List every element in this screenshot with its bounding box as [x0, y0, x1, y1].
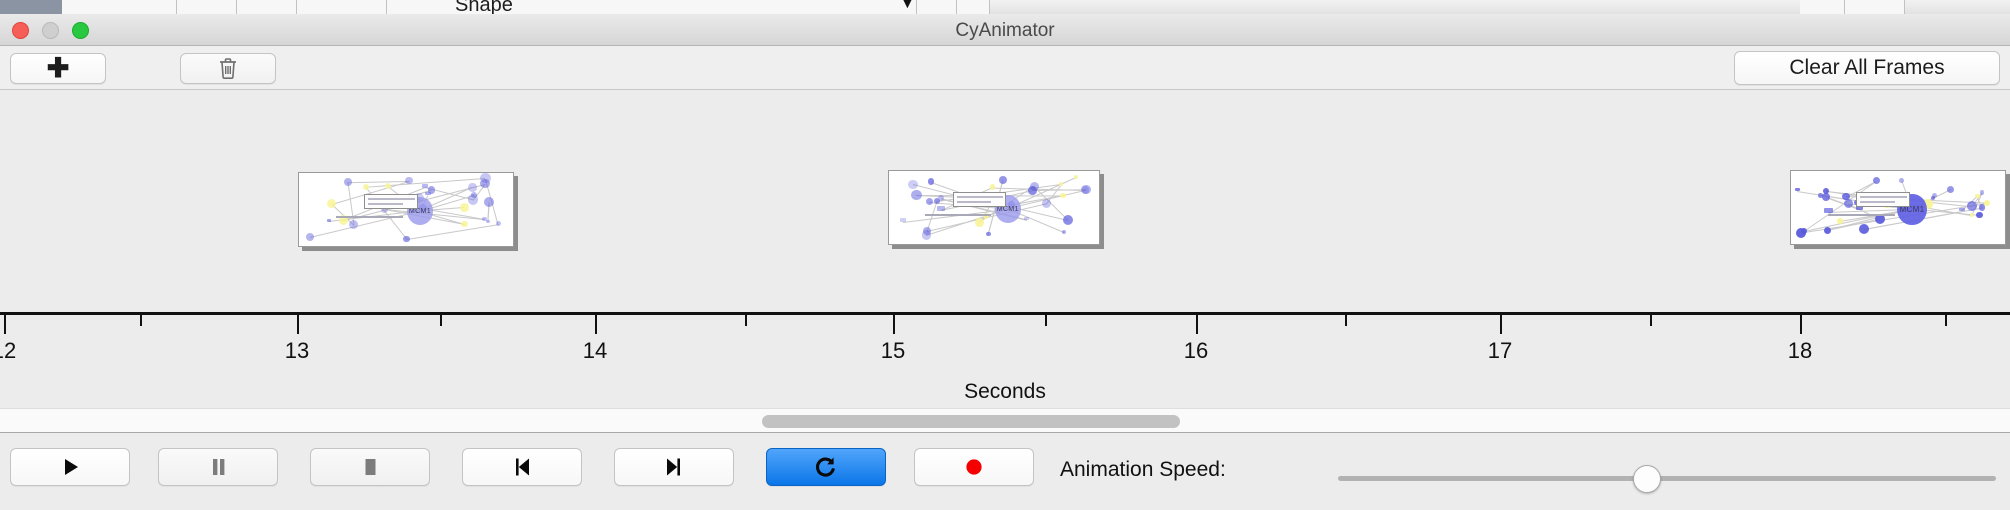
background-chunk — [297, 0, 387, 14]
background-chunk — [62, 0, 177, 14]
graph-node-blue — [422, 184, 429, 188]
add-frame-button[interactable]: ✚ — [10, 53, 106, 84]
graph-caption-line — [925, 214, 991, 216]
animation-speed-label: Animation Speed: — [1060, 458, 1226, 482]
graph-node-blue — [1873, 177, 1880, 184]
graph-node-blue — [1062, 230, 1066, 234]
callout-text-line — [1860, 196, 1907, 198]
skip-forward-icon — [659, 454, 689, 480]
animation-speed-slider-thumb[interactable] — [1633, 465, 1661, 493]
axis-tick-label: 13 — [285, 338, 309, 364]
background-caret-icon: ▼ — [900, 0, 915, 12]
delete-frame-button[interactable] — [180, 53, 276, 84]
graph-annotation-callout — [1856, 192, 1910, 207]
background-chunk — [177, 0, 237, 14]
graph-node-blue — [1030, 182, 1039, 191]
graph-node-blue — [1931, 196, 1935, 200]
frame-thumbnail[interactable]: MCM1 — [888, 170, 1100, 245]
graph-node-blue — [900, 218, 907, 222]
record-button[interactable] — [914, 448, 1034, 486]
axis-tick-minor — [745, 315, 747, 326]
graph-node-blue — [1859, 224, 1869, 234]
axis-tick-minor — [1650, 315, 1652, 326]
loop-button[interactable] — [766, 448, 886, 486]
stop-icon — [355, 454, 385, 480]
graph-node-yellow — [1059, 182, 1063, 186]
background-chunk — [957, 0, 990, 14]
playback-toolbar: Animation Speed: — [0, 434, 2010, 510]
graph-annotation-callout — [364, 194, 418, 209]
graph-node-blue — [468, 183, 476, 191]
graph-node-blue — [908, 180, 917, 189]
graph-node-blue — [1042, 199, 1052, 209]
callout-text-line — [957, 201, 991, 203]
axis-tick-major — [1500, 315, 1502, 334]
axis-tick-major — [1196, 315, 1198, 334]
graph-node-yellow — [1837, 218, 1843, 224]
clear-all-frames-button[interactable]: Clear All Frames — [1734, 51, 2000, 85]
graph-annotation-callout — [953, 192, 1006, 207]
stop-button — [310, 448, 430, 486]
graph-node-blue — [1976, 212, 1983, 219]
background-chunk — [1800, 0, 1845, 14]
graph-node-blue — [306, 233, 314, 241]
graph-node-yellow — [1975, 194, 1979, 198]
background-window-label: Shape — [455, 0, 513, 14]
axis-tick-minor — [440, 315, 442, 326]
graph-node-blue — [403, 236, 409, 242]
pause-button — [158, 448, 278, 486]
axis-tick-minor — [1345, 315, 1347, 326]
background-window-sidebar — [0, 0, 62, 14]
callout-text-line — [1860, 201, 1895, 203]
record-icon — [959, 454, 989, 480]
axis-tick-label: 14 — [583, 338, 607, 364]
graph-node-yellow — [460, 203, 469, 212]
graph-caption-line — [336, 216, 403, 218]
axis-tick-major — [297, 315, 299, 334]
skip-start-button[interactable] — [462, 448, 582, 486]
animation-speed-slider[interactable] — [1338, 476, 1996, 481]
graph-node-blue — [425, 192, 431, 196]
axis-title: Seconds — [0, 380, 2010, 404]
graph-node-blue — [986, 232, 991, 237]
graph-node-blue — [1824, 208, 1832, 213]
graph-node-blue — [1899, 178, 1905, 184]
frame-thumbnail[interactable]: MCM1 — [1790, 170, 2006, 245]
callout-text-line — [957, 196, 1003, 198]
graph-node-blue — [1024, 217, 1029, 220]
axis-tick-label: 17 — [1488, 338, 1512, 364]
graph-node-blue — [486, 220, 490, 224]
graph-node-blue — [937, 206, 945, 211]
background-chunk — [237, 0, 297, 14]
pause-icon — [203, 454, 233, 480]
frame-toolbar: ✚ Clear All Frames — [0, 46, 2010, 90]
graph-node-yellow — [385, 183, 391, 189]
graph-node-blue — [344, 178, 352, 186]
plus-icon: ✚ — [47, 55, 70, 82]
graph-node-blue — [496, 221, 501, 226]
graph-node-yellow — [1074, 175, 1078, 179]
play-button[interactable] — [10, 448, 130, 486]
trash-icon — [218, 57, 238, 81]
frame-thumbnail[interactable]: MCM1 — [298, 172, 514, 247]
graph-node-yellow — [975, 218, 984, 227]
axis-tick-label: 18 — [1788, 338, 1812, 364]
graph-node-blue — [1824, 227, 1831, 234]
background-window-strip: Shape ▼ — [0, 0, 2010, 14]
graph-edge — [406, 224, 498, 240]
graph-node-blue — [327, 219, 331, 222]
graph-node-blue — [1980, 190, 1985, 195]
graph-node-blue — [999, 176, 1007, 184]
axis-tick-label: 12 — [0, 338, 16, 364]
graph-node-blue — [1822, 193, 1830, 201]
graph-node-yellow — [1060, 193, 1065, 198]
graph-node-blue — [1967, 201, 1977, 211]
timeline-scrollbar-thumb[interactable] — [762, 415, 1180, 428]
axis-tick-minor — [1945, 315, 1947, 326]
graph-node-yellow — [990, 184, 996, 190]
timeline-panel[interactable]: MCM1MCM1MCM1 Seconds 12131415161718 — [0, 90, 2010, 408]
background-chunk — [917, 0, 957, 14]
axis-line — [0, 312, 2010, 315]
axis-tick-minor — [1045, 315, 1047, 326]
graph-node-blue — [480, 173, 490, 183]
loop-icon — [811, 454, 841, 480]
axis-tick-major — [1800, 315, 1802, 334]
timeline-frame[interactable]: MCM1 — [888, 170, 1100, 245]
background-chunk — [1845, 0, 1905, 14]
graph-node-blue — [926, 198, 933, 205]
graph-node-blue — [482, 217, 486, 221]
callout-text-line — [368, 203, 403, 205]
graph-node-yellow — [363, 184, 369, 190]
axis-tick-label: 15 — [881, 338, 905, 364]
graph-node-blue — [471, 192, 477, 198]
graph-node-blue — [1063, 215, 1073, 225]
axis-tick-label: 16 — [1184, 338, 1208, 364]
window-title-bar: CyAnimator — [0, 14, 2010, 46]
timeline-scrollbar[interactable] — [0, 408, 2010, 433]
window-title: CyAnimator — [0, 20, 2010, 42]
play-icon — [55, 454, 85, 480]
axis-tick-major — [595, 315, 597, 334]
timeline-frame[interactable]: MCM1 — [298, 172, 514, 247]
graph-node-blue — [1801, 228, 1807, 234]
graph-node-blue — [1959, 208, 1965, 212]
timeline-axis: Seconds 12131415161718 — [0, 312, 2010, 408]
graph-node-yellow — [1984, 200, 1990, 206]
graph-node-blue — [1795, 188, 1800, 191]
graph-node-blue — [1081, 185, 1091, 195]
timeline-frame[interactable]: MCM1 — [1790, 170, 2006, 245]
graph-node-blue — [911, 190, 921, 200]
graph-node-blue — [1947, 186, 1954, 193]
graph-node-yellow — [461, 221, 468, 228]
graph-node-blue — [349, 220, 358, 229]
axis-tick-major — [4, 315, 6, 334]
callout-text-line — [368, 198, 415, 200]
graph-caption-line — [1828, 214, 1895, 216]
axis-tick-major — [893, 315, 895, 334]
frames-container[interactable]: MCM1MCM1MCM1 — [0, 90, 2010, 312]
graph-node-yellow — [1970, 213, 1974, 217]
axis-tick-minor — [140, 315, 142, 326]
skip-back-icon — [507, 454, 537, 480]
skip-end-button[interactable] — [614, 448, 734, 486]
